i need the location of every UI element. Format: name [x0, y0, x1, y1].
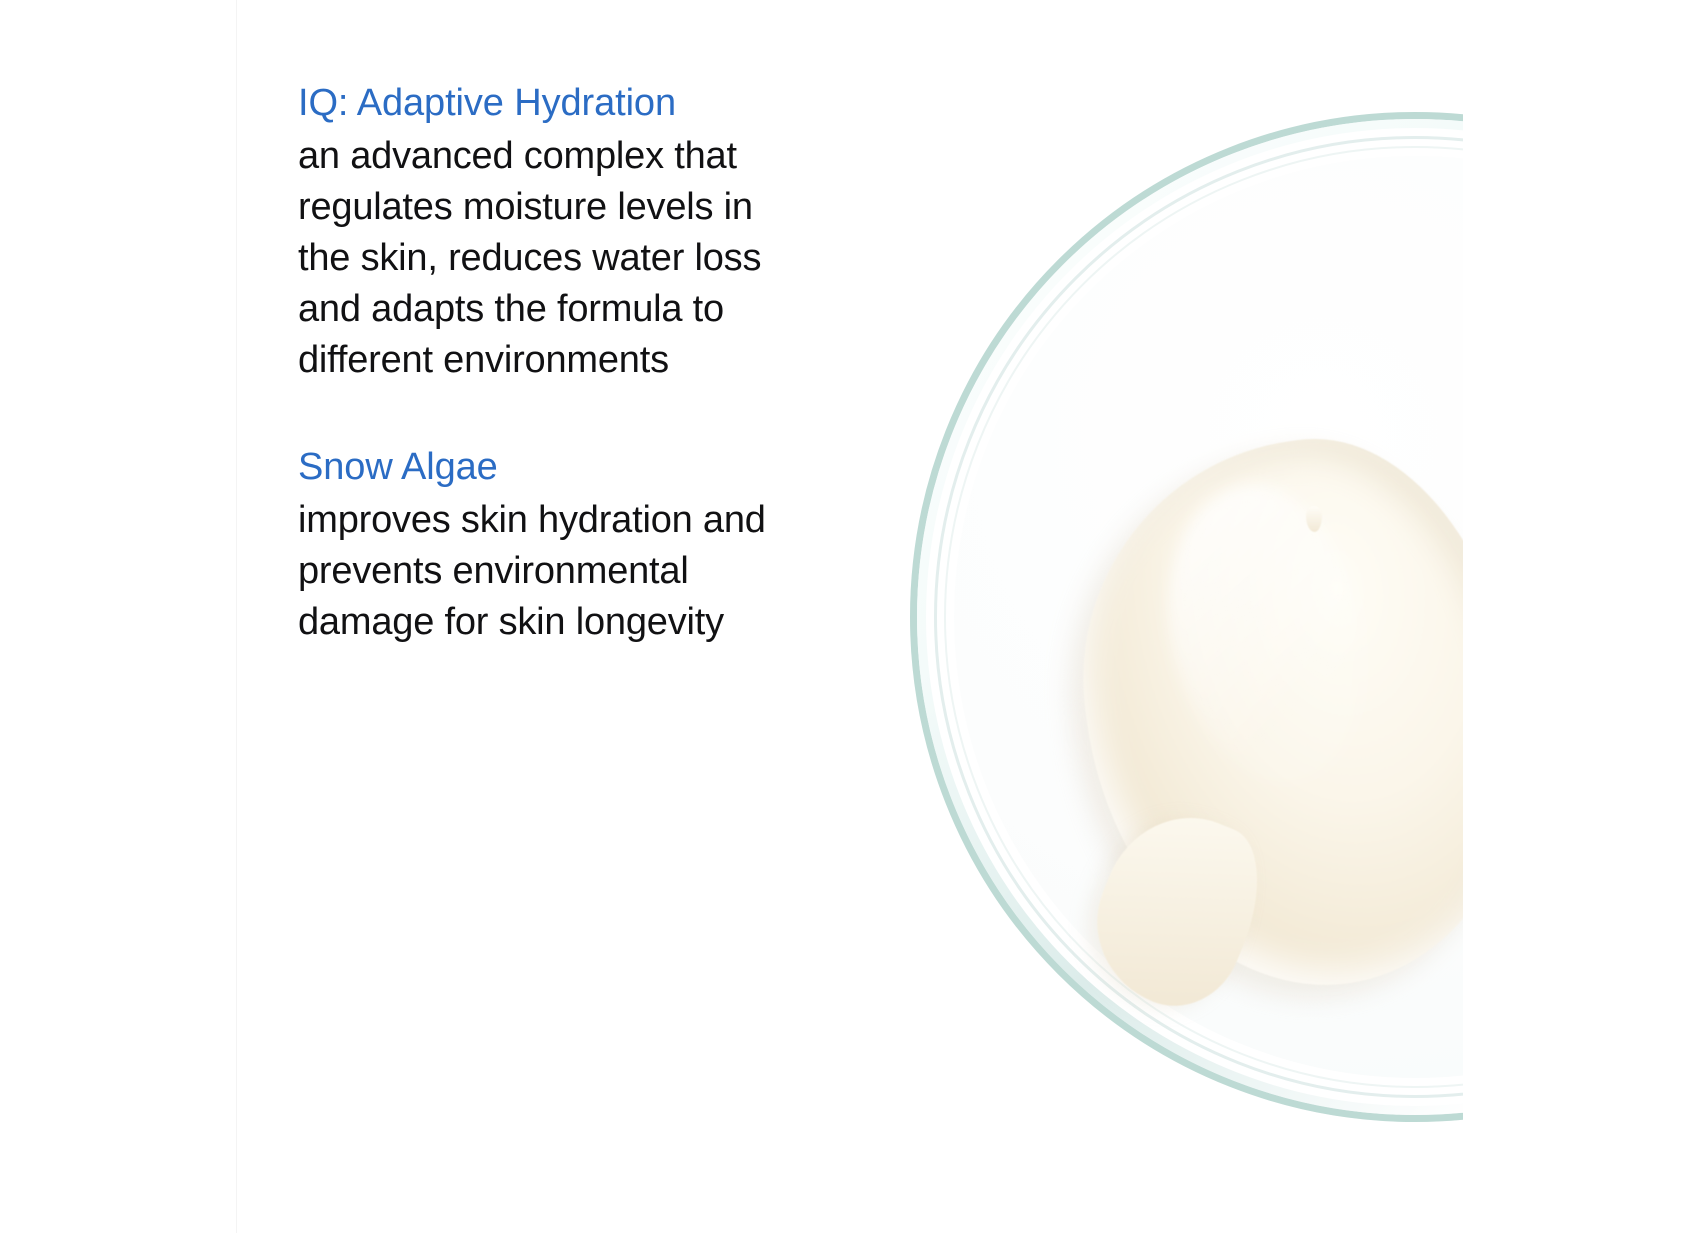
- petri-dish: [910, 112, 1463, 1122]
- product-ingredient-panel: IQ: Adaptive Hydration an advanced compl…: [0, 0, 1700, 1233]
- description-line: prevents environmental: [298, 546, 898, 597]
- panel-divider: [236, 0, 237, 1233]
- ingredient-description: improves skin hydration and prevents env…: [298, 495, 898, 648]
- description-line: damage for skin longevity: [298, 597, 898, 648]
- ingredient-description: an advanced complex that regulates moist…: [298, 131, 898, 386]
- product-photo: [890, 0, 1463, 1233]
- description-line: different environments: [298, 335, 898, 386]
- description-line: the skin, reduces water loss: [298, 233, 898, 284]
- description-line: and adapts the formula to: [298, 284, 898, 335]
- ingredient-block-snow-algae: Snow Algae improves skin hydration and p…: [298, 442, 898, 648]
- description-line: an advanced complex that: [298, 131, 898, 182]
- description-line: improves skin hydration and: [298, 495, 898, 546]
- ingredient-heading: IQ: Adaptive Hydration: [298, 78, 898, 128]
- description-line: regulates moisture levels in: [298, 182, 898, 233]
- ingredient-text-column: IQ: Adaptive Hydration an advanced compl…: [298, 78, 898, 648]
- ingredient-block-adaptive-hydration: IQ: Adaptive Hydration an advanced compl…: [298, 78, 898, 386]
- ingredient-heading: Snow Algae: [298, 442, 898, 492]
